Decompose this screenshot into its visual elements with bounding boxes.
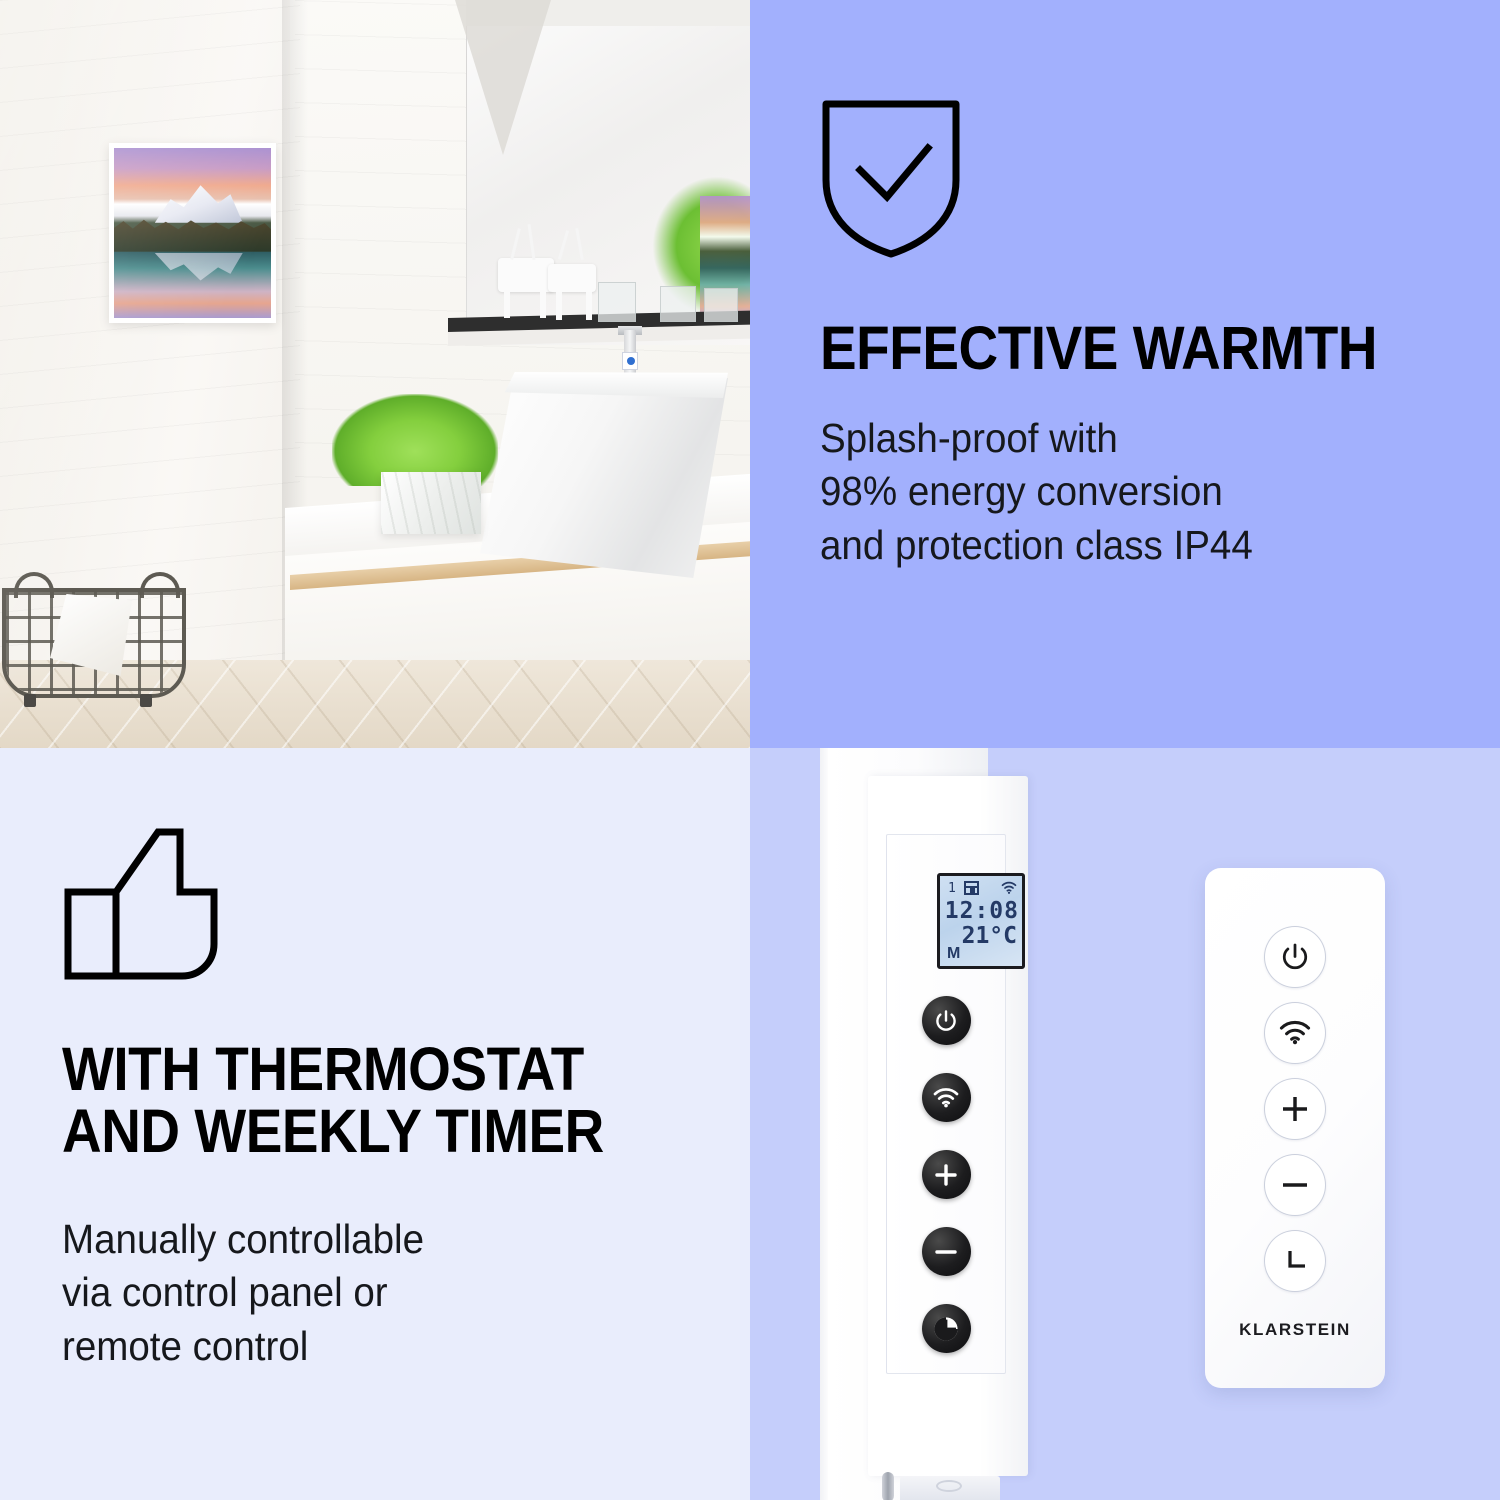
wifi-icon bbox=[1001, 879, 1017, 892]
effective-warmth-panel: EFFECTIVE WARMTH Splash-proof with 98% e… bbox=[750, 0, 1500, 748]
thumbs-up-icon bbox=[62, 826, 228, 987]
marble-plant-pot bbox=[381, 472, 481, 534]
mountain-peak bbox=[155, 182, 243, 223]
bathroom-scene bbox=[0, 0, 750, 748]
calendar-icon bbox=[964, 881, 979, 895]
ceiling-reflection bbox=[455, 0, 551, 155]
remote-wifi-button[interactable] bbox=[1264, 1002, 1326, 1064]
glass-vase-2 bbox=[660, 286, 696, 322]
decrease-button[interactable] bbox=[922, 1227, 971, 1276]
remote-control: KLARSTEIN bbox=[1205, 868, 1385, 1388]
remote-timer-button[interactable] bbox=[1264, 1230, 1326, 1292]
lcd-day-indicator: 1 bbox=[948, 881, 957, 896]
lcd-time: 12:08 bbox=[940, 898, 1019, 924]
faucet-price-tag bbox=[622, 352, 638, 370]
wifi-button[interactable] bbox=[922, 1073, 971, 1122]
remote-increase-button[interactable] bbox=[1264, 1078, 1326, 1140]
bathroom-photo-panel bbox=[0, 0, 750, 748]
thermostat-description: Manually controllable via control panel … bbox=[62, 1213, 424, 1373]
lcd-display: 1 12:08 21°C M bbox=[937, 873, 1025, 969]
device-controls-panel: 1 12:08 21°C M bbox=[750, 748, 1500, 1500]
remote-decrease-button[interactable] bbox=[1264, 1154, 1326, 1216]
bracket-pin bbox=[882, 1472, 894, 1500]
basket-foot-right bbox=[140, 694, 152, 707]
timer-button[interactable] bbox=[922, 1304, 971, 1353]
panel-button-column bbox=[911, 996, 981, 1381]
deer-leg-1 bbox=[504, 290, 510, 318]
lcd-mode-indicator: M bbox=[947, 945, 960, 963]
mountain-lake-image bbox=[114, 148, 271, 318]
increase-button[interactable] bbox=[922, 1150, 971, 1199]
thermostat-title: WITH THERMOSTAT AND WEEKLY TIMER bbox=[62, 1038, 604, 1162]
remote-power-button[interactable] bbox=[1264, 926, 1326, 988]
bracket-knob bbox=[936, 1480, 962, 1492]
mountain-artwork-panel bbox=[109, 143, 276, 323]
remote-brand-label: KLARSTEIN bbox=[1205, 1320, 1385, 1340]
product-feature-collage: EFFECTIVE WARMTH Splash-proof with 98% e… bbox=[0, 0, 1500, 1500]
basket-foot-left bbox=[24, 694, 36, 707]
washbasin bbox=[480, 372, 728, 578]
deer-leg-3 bbox=[556, 292, 562, 320]
tree-line bbox=[114, 218, 271, 252]
deer-leg-4 bbox=[586, 292, 592, 320]
lake-reflection bbox=[114, 252, 271, 318]
power-button[interactable] bbox=[922, 996, 971, 1045]
deer-figurine-body-2 bbox=[548, 264, 596, 292]
deer-leg-2 bbox=[540, 290, 546, 318]
glass-vase-1 bbox=[598, 282, 636, 322]
shield-check-icon bbox=[820, 98, 962, 265]
thermostat-timer-panel: WITH THERMOSTAT AND WEEKLY TIMER Manuall… bbox=[0, 748, 750, 1500]
warmth-title: EFFECTIVE WARMTH bbox=[820, 317, 1377, 379]
glass-vase-3 bbox=[704, 288, 738, 322]
deer-figurine-body-1 bbox=[498, 258, 554, 292]
warmth-description: Splash-proof with 98% energy conversion … bbox=[820, 412, 1253, 572]
